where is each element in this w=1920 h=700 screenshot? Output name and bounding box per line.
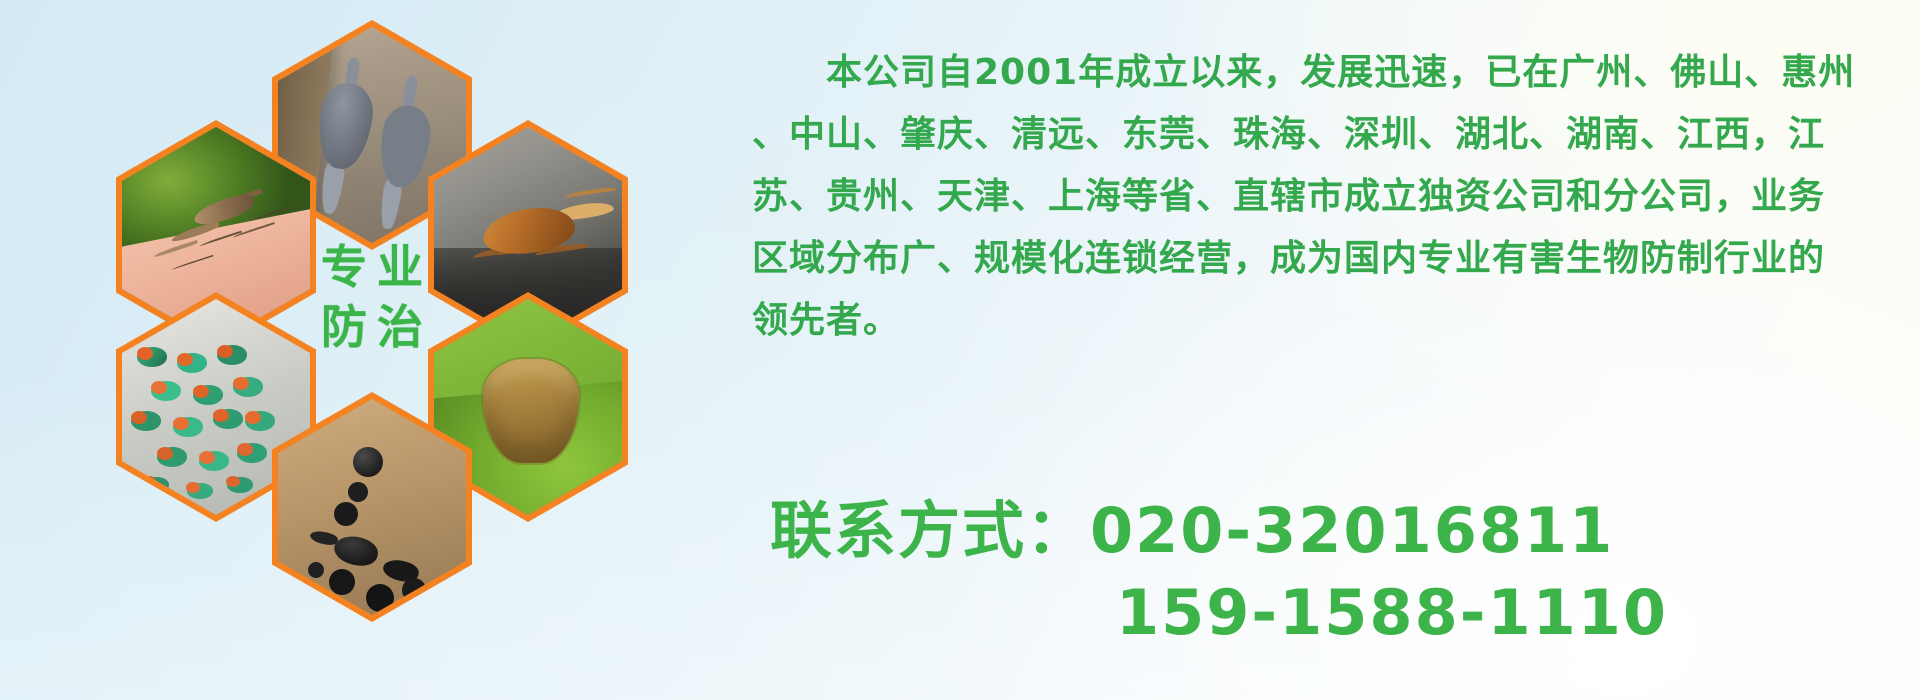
hex-inner-ants [278, 399, 466, 615]
logo-slogan: 专业 防治 [288, 182, 456, 412]
contact-phone-mobile[interactable]: 159-1588-1110 [770, 572, 1830, 654]
ants-photo [278, 399, 466, 615]
company-description: 本公司自2001年成立以来，发展迅速，已在广州、佛山、惠州 、中山、肇庆、清远、… [752, 42, 1902, 352]
description-line: 区域分布广、规模化连锁经营，成为国内专业有害生物防制行业的 [752, 228, 1902, 290]
promo-banner: 专业 防治 本公司自2001年成立以来，发展迅速，已在广州、佛山、惠州 、中山、… [0, 0, 1920, 700]
contact-phone-landline[interactable]: 联系方式：020-32016811 [770, 490, 1830, 572]
description-line: 、中山、肇庆、清远、东莞、珠海、深圳、湖北、湖南、江西，江 [752, 104, 1902, 166]
logo-slogan-line-2: 防治 [311, 304, 433, 350]
description-line: 苏、贵州、天津、上海等省、直辖市成立独资公司和分公司，业务 [752, 166, 1902, 228]
description-line: 本公司自2001年成立以来，发展迅速，已在广州、佛山、惠州 [752, 42, 1902, 104]
honeycomb-logo: 专业 防治 [92, 6, 702, 696]
logo-slogan-line-1: 专业 [311, 244, 433, 290]
description-line: 领先者。 [752, 290, 1902, 352]
contact-info: 联系方式：020-32016811 159-1588-1110 [770, 490, 1830, 654]
